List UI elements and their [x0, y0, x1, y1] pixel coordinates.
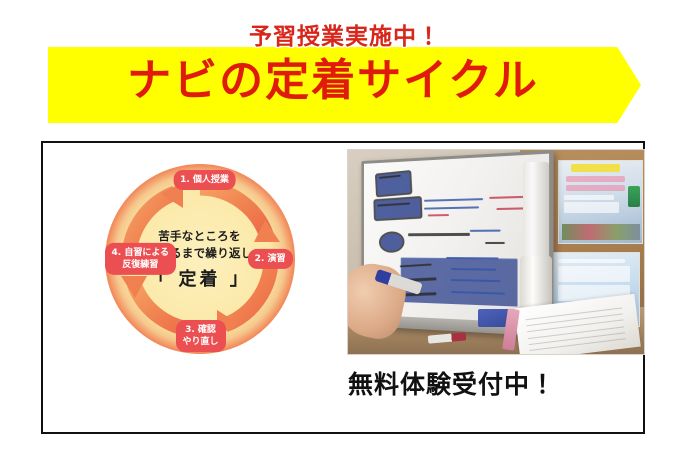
cycle-label-4-line-2: 反復練習	[112, 259, 170, 271]
hw-sentence-tail	[470, 229, 501, 231]
cycle-label-2-practice: 2. 演習	[248, 249, 293, 269]
retention-cycle-diagram: 苦手なところを わかるまで繰り返し 「 定着 」 1. 個人授業 2. 演習 3…	[52, 148, 347, 370]
whiteboard-p10-box	[375, 170, 412, 197]
hw-count-note	[485, 242, 505, 244]
hw-mark-red-right-2	[497, 207, 525, 210]
cycle-label-2-text: 2. 演習	[255, 254, 286, 264]
photo-wall-poster-top	[558, 160, 643, 244]
paper-line-6	[529, 339, 625, 352]
cycle-label-4-self-study-repetition: 4. 自習による 反復練習	[105, 243, 177, 275]
classroom-photo	[347, 149, 645, 355]
poster-band-1	[566, 176, 626, 183]
poster-green-tab	[628, 186, 640, 207]
poster-header-band	[571, 164, 621, 171]
poster-band-4	[564, 202, 619, 213]
cycle-label-1-text: 1. 個人授業	[180, 175, 229, 185]
poster-b-band-2	[558, 266, 630, 282]
poster-band-3	[564, 195, 614, 199]
paper-line-4	[527, 326, 623, 339]
hw-mark-jp-phrase	[424, 198, 483, 202]
hw-sentence-ive-visited	[408, 233, 470, 236]
poster-band-2	[566, 185, 626, 192]
whiteboard-point-box	[374, 196, 423, 221]
banner-subtitle: 予習授業実施中！	[0, 26, 690, 49]
free-trial-cta-text: 無料体験受付中！	[348, 365, 638, 401]
poster-photo-strip	[562, 224, 640, 240]
poster-b-band-1	[558, 259, 625, 263]
cycle-label-3-check-redo: 3. 確認 やり直し	[175, 320, 225, 352]
hw-mark-red-note	[427, 214, 449, 216]
banner-title: ナビの定着サイクル	[48, 57, 618, 105]
paper-line-5	[528, 332, 624, 345]
whiteboard-example-circle	[378, 231, 405, 253]
cycle-label-1-personal-lesson: 1. 個人授業	[173, 170, 236, 190]
cycle-label-3-line-2: やり直し	[182, 336, 218, 348]
paper-line-2	[526, 313, 622, 326]
cycle-stage: 苦手なところを わかるまで繰り返し 「 定着 」 1. 個人授業 2. 演習 3…	[105, 164, 295, 354]
paper-line-3	[527, 320, 623, 333]
content-panel: 苦手なところを わかるまで繰り返し 「 定着 」 1. 個人授業 2. 演習 3…	[41, 141, 645, 434]
cycle-label-3-line-1: 3. 確認	[182, 324, 218, 336]
paper-line-1	[525, 307, 621, 320]
hw-underline-wavy	[424, 207, 479, 210]
cycle-label-4-line-1: 4. 自習による	[112, 247, 170, 259]
header-banner: 予習授業実施中！ ナビの定着サイクル	[0, 0, 690, 130]
